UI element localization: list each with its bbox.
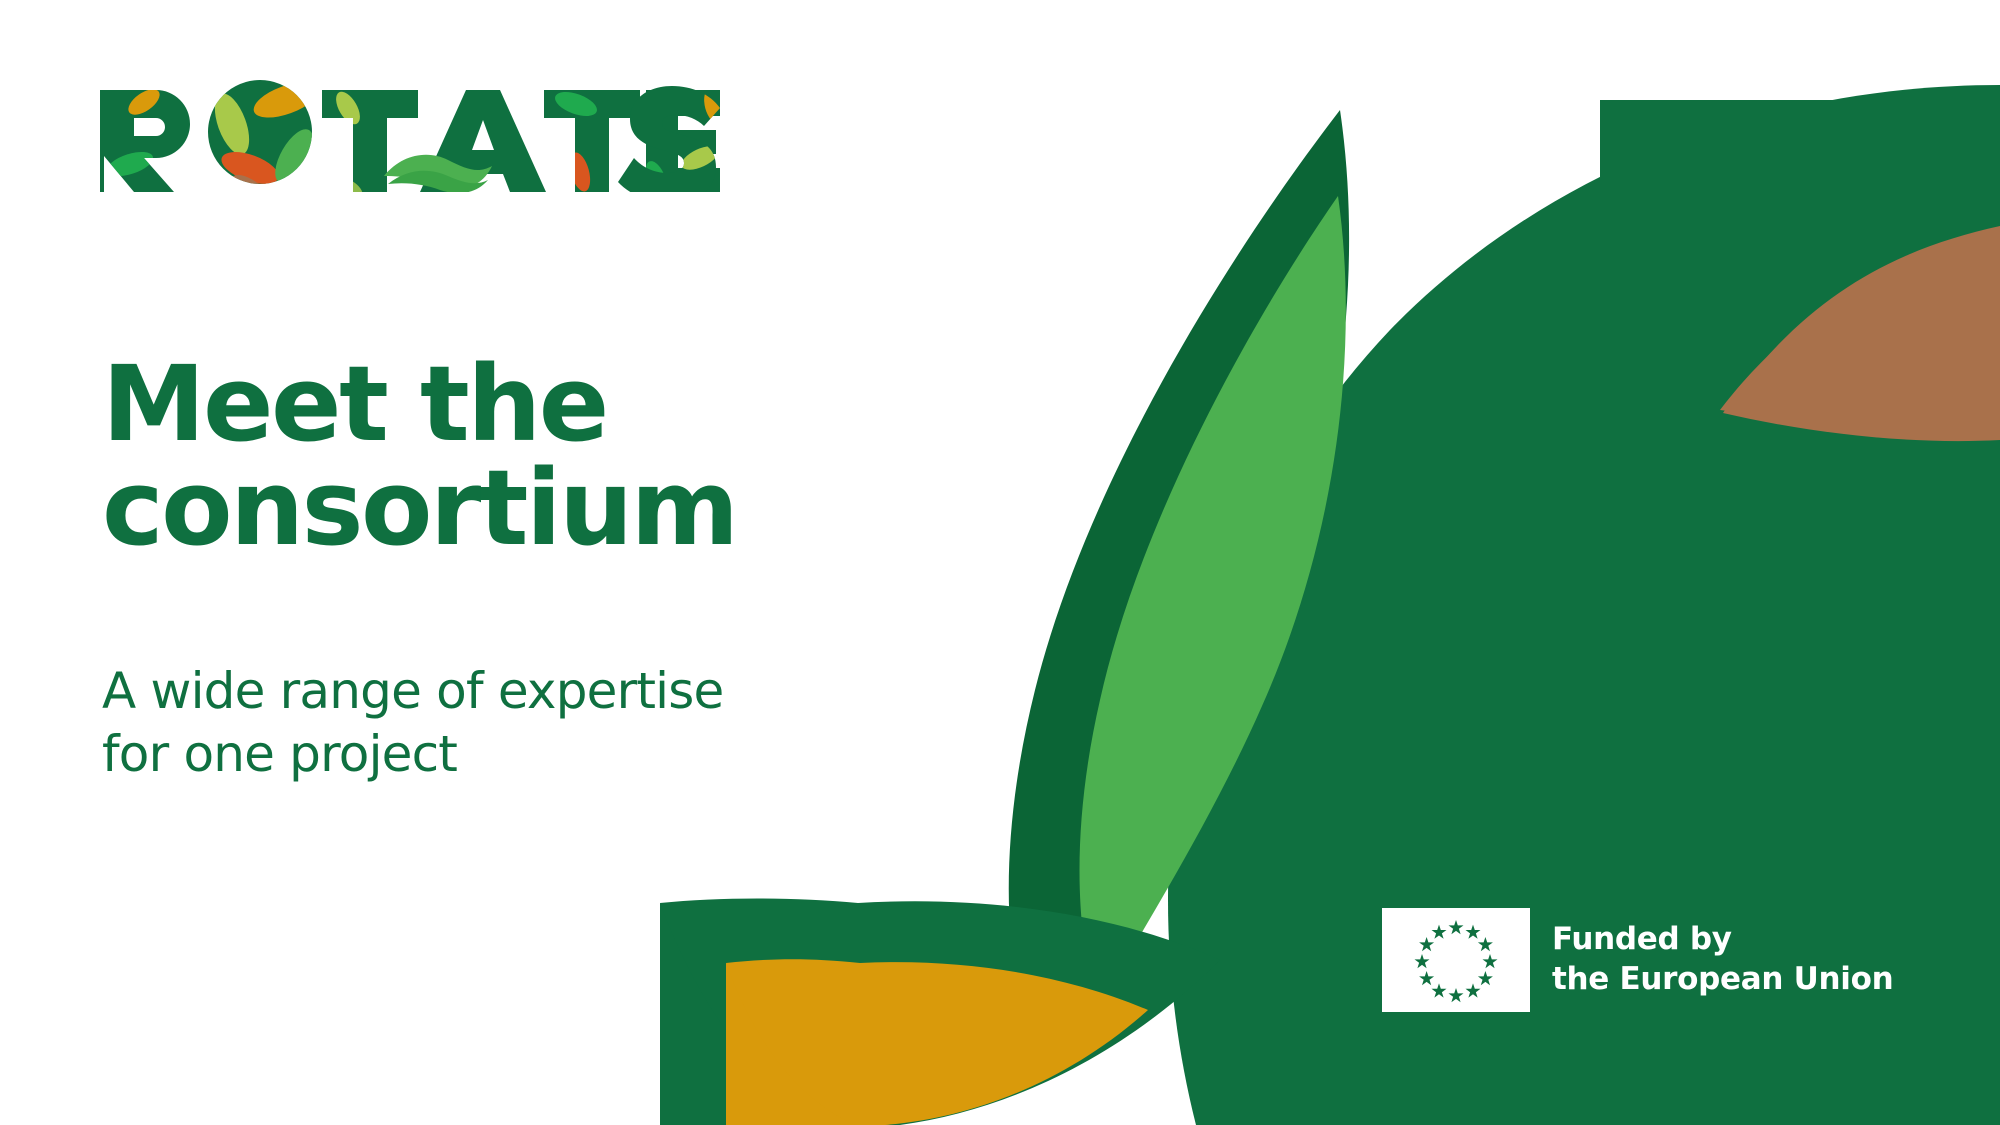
rotates-logo[interactable] — [100, 72, 720, 192]
upright-leaf-dark — [1009, 110, 1349, 1050]
slide-root: Meet the consortium A wide range of expe… — [0, 0, 2000, 1125]
eu-flag-icon — [1382, 908, 1530, 1012]
rotates-logo-icon — [100, 72, 720, 192]
page-title: Meet the consortium — [102, 352, 942, 560]
logo-o-pinwheel — [208, 75, 323, 192]
eu-funding-label: Funded by the European Union — [1552, 920, 1893, 999]
content-column: Meet the consortium A wide range of expe… — [100, 0, 980, 1125]
eu-funding-badge: Funded by the European Union — [1382, 908, 1893, 1012]
upright-leaf-light — [1080, 196, 1346, 1008]
brown-soil-band-2 — [1723, 226, 2000, 441]
brown-soil-band — [1720, 228, 2000, 423]
page-subtitle: A wide range of expertise for one projec… — [102, 660, 942, 785]
